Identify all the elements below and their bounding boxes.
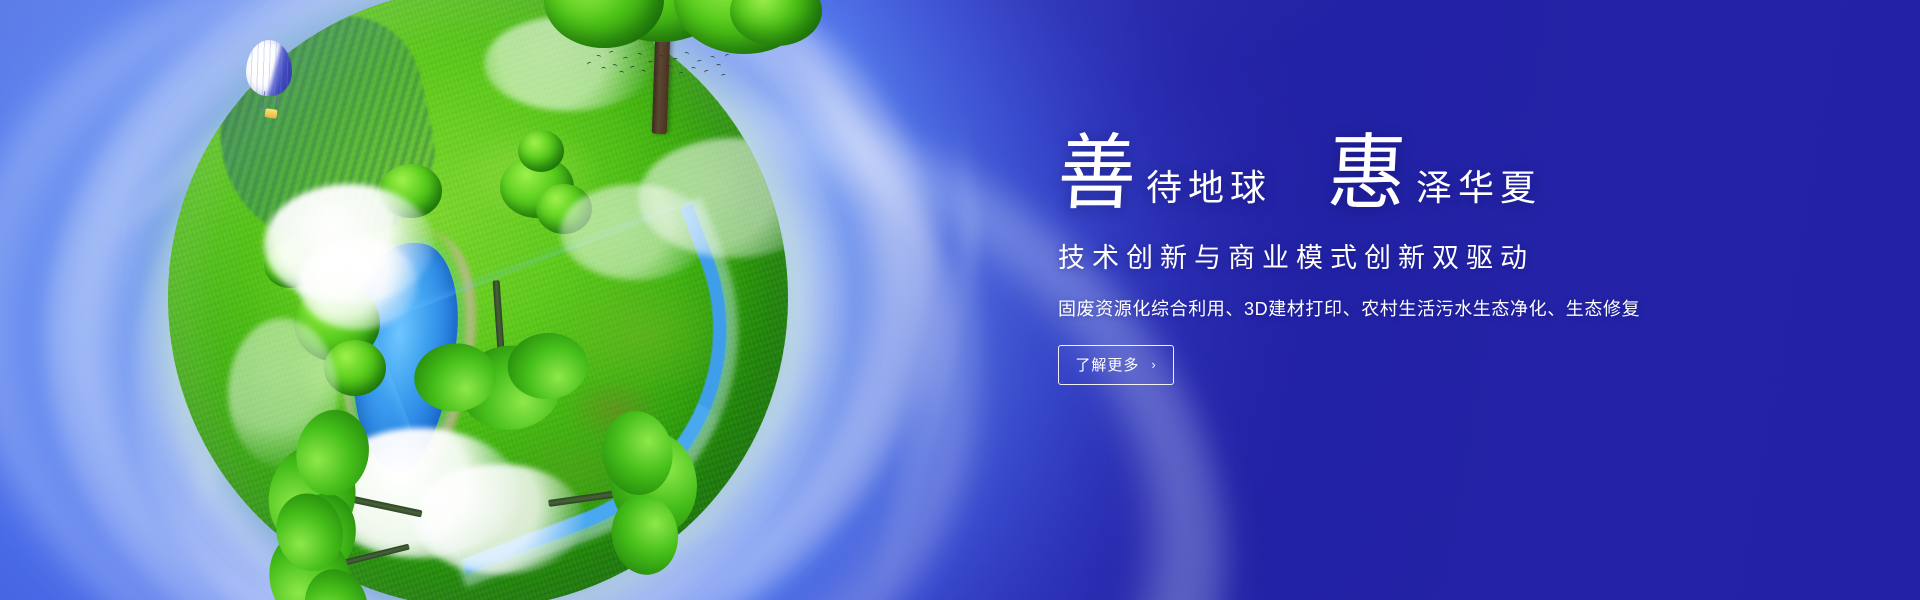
page-title: 善 待地球 惠 泽华夏 (1058, 138, 1758, 210)
learn-more-button[interactable]: 了解更多 › (1058, 345, 1174, 385)
bird-icon (609, 50, 615, 55)
bird-icon (596, 55, 602, 60)
tree-icon (405, 262, 598, 464)
bird-icon (658, 54, 664, 59)
bird-icon (684, 51, 690, 56)
hot-air-balloon-icon (246, 40, 298, 126)
headline-phrase-two: 惠 泽华夏 (1328, 138, 1542, 210)
learn-more-label: 了解更多 (1075, 354, 1139, 375)
subtitle: 技术创新与商业模式创新双驱动 (1058, 236, 1758, 275)
bird-icon (623, 57, 628, 61)
bird-icon (716, 64, 721, 68)
tagline: 固废资源化综合利用、3D建材打印、农村生活污水生态净化、生态修复 (1058, 295, 1758, 321)
bird-icon (636, 52, 642, 58)
bird-icon (611, 63, 617, 69)
bird-icon (586, 61, 592, 67)
bird-icon (654, 72, 660, 77)
bird-icon (673, 58, 678, 63)
bird-icon (648, 61, 653, 65)
bird-icon (678, 71, 684, 76)
balloon-basket (264, 108, 277, 119)
headline-char-large-2: 惠 (1326, 136, 1408, 212)
headline-phrase-one: 善 待地球 (1058, 138, 1272, 210)
headline-chars-small-2: 泽华夏 (1416, 170, 1542, 210)
bird-icon (601, 67, 606, 71)
bird-icon (619, 71, 625, 76)
bird-icon (641, 70, 647, 75)
balloon-gores (246, 40, 292, 96)
bird-icon (710, 55, 716, 60)
hero-banner: 善 待地球 惠 泽华夏 技术创新与商业模式创新双驱动 固废资源化综合利用、3D建… (0, 0, 1920, 600)
bird-icon (691, 67, 696, 71)
headline-char-large-1: 善 (1056, 136, 1138, 212)
bird-icon (666, 65, 671, 70)
bird-flock-icon (585, 46, 725, 90)
hero-text-block: 善 待地球 惠 泽华夏 技术创新与商业模式创新双驱动 固废资源化综合利用、3D建… (1058, 138, 1758, 385)
chevron-right-icon: › (1151, 357, 1156, 372)
headline-chars-small-1: 待地球 (1146, 170, 1272, 210)
bird-icon (630, 65, 636, 70)
bird-icon (703, 69, 709, 75)
bird-icon (697, 60, 703, 65)
